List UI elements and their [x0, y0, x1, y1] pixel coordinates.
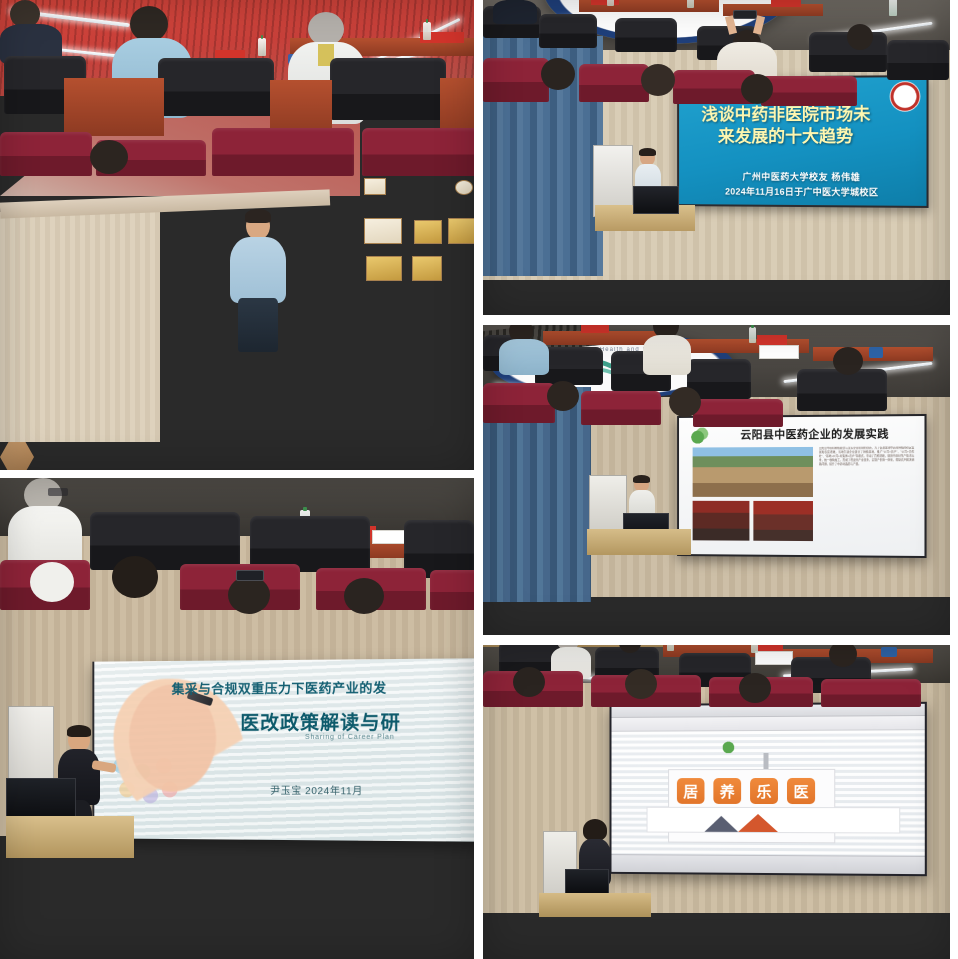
- podium: [587, 529, 691, 555]
- smartphone: [236, 570, 264, 581]
- award-medallion: [455, 180, 473, 195]
- chair: [90, 512, 240, 570]
- presentation-screen: 集采与合规双重压力下医药产业的发 医改政策解读与研 Sharing of Car…: [92, 658, 474, 841]
- water-bottle: [423, 22, 431, 40]
- paper-card: [759, 345, 799, 359]
- water-bottle: [687, 0, 694, 8]
- podium-monitor: [633, 186, 679, 214]
- slide-subtitle-date: 2024年11月16日于广中医大学城校区: [679, 184, 926, 198]
- attendee: [643, 325, 691, 373]
- chair: [330, 58, 446, 120]
- attendee: [663, 387, 709, 427]
- slide-title-line-1: 集采与合规双重压力下医药产业的发: [172, 677, 474, 698]
- slide-english-subtitle: Sharing of Career Plan: [305, 734, 395, 741]
- side-wall: [0, 212, 160, 442]
- slide-chip-row: 居 养 乐 医: [677, 778, 815, 804]
- award-plaque: [414, 220, 442, 244]
- attendee: [735, 74, 779, 108]
- attendee: [507, 667, 553, 707]
- app-ribbon: [611, 716, 924, 732]
- slide-image-event-2: [753, 501, 813, 541]
- attendee: [619, 669, 665, 709]
- framed-certificate: [364, 178, 386, 195]
- award-plaque: [448, 218, 474, 244]
- collage-panel-bottom-right: 居 养 乐 医: [483, 645, 950, 959]
- green-leaf-logo-icon: [721, 739, 737, 753]
- water-bottle: [258, 38, 266, 56]
- award-plaque: [366, 256, 402, 281]
- attendee: [733, 673, 779, 709]
- slide-thumbnail-strip: [647, 807, 901, 834]
- slide-subtitle-author: 广州中医药大学校友 杨伟雄: [679, 170, 926, 184]
- collage-panel-middle-right: School of Public Health and Management 云…: [483, 325, 950, 635]
- chair: [581, 391, 661, 425]
- hex-shelf: [0, 442, 34, 470]
- attendee: [80, 140, 140, 180]
- name-card: [757, 335, 787, 345]
- chair: [362, 128, 474, 176]
- name-card: [591, 0, 619, 5]
- chair: [615, 18, 677, 52]
- desk: [64, 78, 164, 136]
- green-leaf-logo-icon: [691, 428, 709, 444]
- photo-collage: 公共卫生与管理学院 School of Public Health and Ma…: [0, 0, 958, 959]
- water-bottle: [607, 0, 614, 6]
- blue-box: [869, 347, 883, 358]
- app-taskbar: [611, 854, 924, 874]
- attendee: [499, 325, 549, 375]
- water-bottle: [751, 645, 758, 653]
- podium: [539, 893, 651, 917]
- award-plaque: [412, 256, 442, 281]
- slide-image-farmers: [693, 447, 813, 497]
- attendee: [493, 0, 537, 22]
- slide-chip: 居: [677, 778, 705, 804]
- chair: [539, 14, 597, 48]
- podium: [6, 816, 134, 858]
- attendee: [823, 645, 865, 681]
- app-canvas: 居 养 乐 医: [611, 730, 924, 856]
- slide-chip: 养: [713, 778, 741, 804]
- attendee: [334, 578, 394, 616]
- presentation-screen: 居 养 乐 医: [610, 702, 927, 876]
- attendee: [825, 347, 873, 389]
- smartphone: [733, 10, 757, 19]
- slide-body-text: 云阳县中药材种植模式与龙头企业机制的创新，为了促进本地中药材种植的稳定发展和农民…: [819, 446, 914, 543]
- water-bottle: [667, 645, 674, 651]
- chair: [430, 570, 474, 610]
- chair: [212, 128, 354, 176]
- podium-monitor: [565, 869, 609, 895]
- slide-title-line-2: 医改政策解读与研: [240, 707, 474, 735]
- paper-card: [755, 651, 793, 665]
- eyeglasses: [48, 488, 68, 496]
- presentation-screen: 云阳县中医药企业的发展实践 云阳县中药材种植模式与龙头企业机制的创新，为了促进本…: [677, 414, 926, 558]
- water-bottle: [749, 327, 756, 343]
- name-card: [771, 0, 801, 7]
- slide-image-event-1: [693, 501, 750, 541]
- slide-author-date: 尹玉宝 2024年11月: [270, 782, 363, 797]
- attendee: [539, 381, 587, 425]
- chair: [0, 132, 92, 176]
- chair: [158, 58, 274, 116]
- slide-chip: 医: [787, 778, 815, 804]
- attendee: [635, 64, 683, 104]
- attendee: [533, 58, 583, 102]
- water-bottle: [889, 0, 897, 16]
- collage-panel-top-left: 公共卫生与管理学院 School of Public Health and Ma…: [0, 0, 474, 470]
- name-card: [581, 325, 609, 333]
- attendee-with-phone: [214, 570, 284, 616]
- slide-chip: 乐: [750, 778, 778, 804]
- chair: [821, 679, 921, 707]
- slide-title: 浅谈中药非医院市场未 来发展的十大趋势: [687, 104, 886, 148]
- gzucm-round-logo-icon: [890, 81, 921, 112]
- slide-title: 云阳县中医药企业的发展实践: [712, 425, 918, 442]
- blue-box: [881, 647, 897, 657]
- award-plaque: [364, 218, 402, 244]
- speaker: [226, 212, 290, 352]
- chair: [887, 40, 949, 80]
- collage-panel-top-right: School of Public Health and Management 浅…: [483, 0, 950, 315]
- collage-panel-bottom-left: School of Public Health and Management: [0, 478, 474, 959]
- attendee: [841, 24, 879, 56]
